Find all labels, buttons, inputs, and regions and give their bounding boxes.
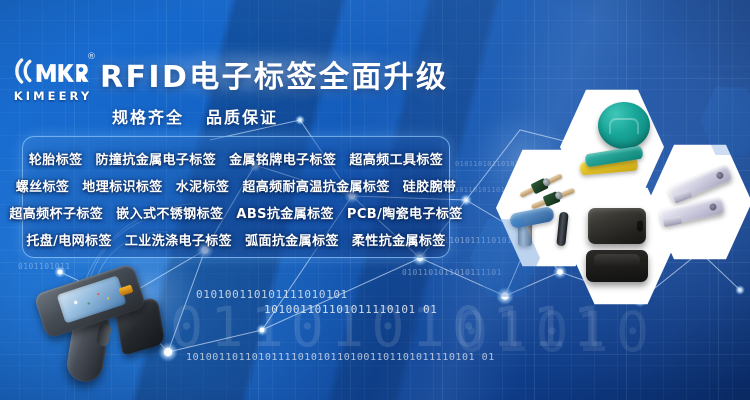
dark-antimetal-pad-a bbox=[588, 208, 646, 244]
product-item[interactable]: 柔性抗金属标签 bbox=[352, 230, 446, 249]
product-item[interactable]: 嵌入式不锈钢标签 bbox=[116, 203, 223, 222]
dark-antimetal-pad-b bbox=[586, 250, 648, 282]
rfid-promo-banner: 01101010111 01010 010100110101111010101 … bbox=[0, 0, 750, 400]
product-item[interactable]: 弧面抗金属标签 bbox=[245, 230, 339, 249]
product-item[interactable]: 水泥标签 bbox=[176, 176, 230, 195]
headline-title: RFID电子标签全面升级 bbox=[100, 52, 445, 96]
product-item[interactable]: 硅胶腕带 bbox=[403, 176, 457, 195]
product-list-panel: 轮胎标签 防撞抗金属电子标签 金属铭牌电子标签 超高频工具标签 螺丝标签 地理标… bbox=[22, 136, 450, 258]
product-row-4: 托盘/电网标签 工业洗涤电子标签 弧面抗金属标签 柔性抗金属标签 bbox=[29, 226, 443, 253]
decorative-hexagon-b bbox=[700, 86, 750, 156]
brand-name: KIMEERY bbox=[12, 89, 94, 103]
reader-screen bbox=[57, 275, 127, 323]
product-item[interactable]: 超高频杯子标签 bbox=[9, 203, 103, 222]
headline-subtitle: 规格齐全 品质保证 bbox=[112, 104, 278, 128]
brand-logo[interactable]: ® KIMEERY bbox=[12, 54, 94, 103]
product-item[interactable]: 托盘/电网标签 bbox=[26, 230, 112, 249]
handheld-rfid-reader bbox=[30, 272, 165, 392]
subtitle-right: 品质保证 bbox=[206, 104, 278, 128]
product-item[interactable]: 工业洗涤电子标签 bbox=[125, 230, 232, 249]
white-antimetal-bar-b bbox=[659, 197, 725, 227]
product-row-3: 超高频杯子标签 嵌入式不锈钢标签 ABS抗金属标签 PCB/陶瓷电子标签 bbox=[29, 199, 443, 226]
product-item[interactable]: 轮胎标签 bbox=[29, 149, 83, 168]
product-item[interactable]: ABS抗金属标签 bbox=[236, 203, 334, 222]
product-item[interactable]: 防撞抗金属电子标签 bbox=[96, 149, 217, 168]
product-item[interactable]: PCB/陶瓷电子标签 bbox=[347, 203, 463, 222]
white-antimetal-bar-a bbox=[667, 164, 733, 204]
product-item[interactable]: 超高频耐高温抗金属标签 bbox=[242, 176, 389, 195]
teal-disc-tag bbox=[598, 102, 650, 149]
product-item[interactable]: 超高频工具标签 bbox=[349, 149, 443, 168]
black-cylinder-tag bbox=[556, 212, 569, 247]
product-item[interactable]: 金属铭牌电子标签 bbox=[229, 149, 336, 168]
kmr-monogram-icon: ® bbox=[12, 54, 94, 88]
product-row-1: 轮胎标签 防撞抗金属电子标签 金属铭牌电子标签 超高频工具标签 bbox=[29, 145, 443, 172]
product-hexagon-white-antimetal-tags bbox=[648, 143, 750, 261]
registered-trademark-symbol: ® bbox=[87, 52, 96, 62]
product-row-2: 螺丝标签 地理标识标签 水泥标签 超高频耐高温抗金属标签 硅胶腕带 bbox=[29, 172, 443, 199]
product-item[interactable]: 地理标识标签 bbox=[82, 176, 162, 195]
subtitle-left: 规格齐全 bbox=[112, 104, 184, 128]
decorative-hexagon-a bbox=[470, 218, 540, 298]
product-item[interactable]: 螺丝标签 bbox=[16, 176, 70, 195]
